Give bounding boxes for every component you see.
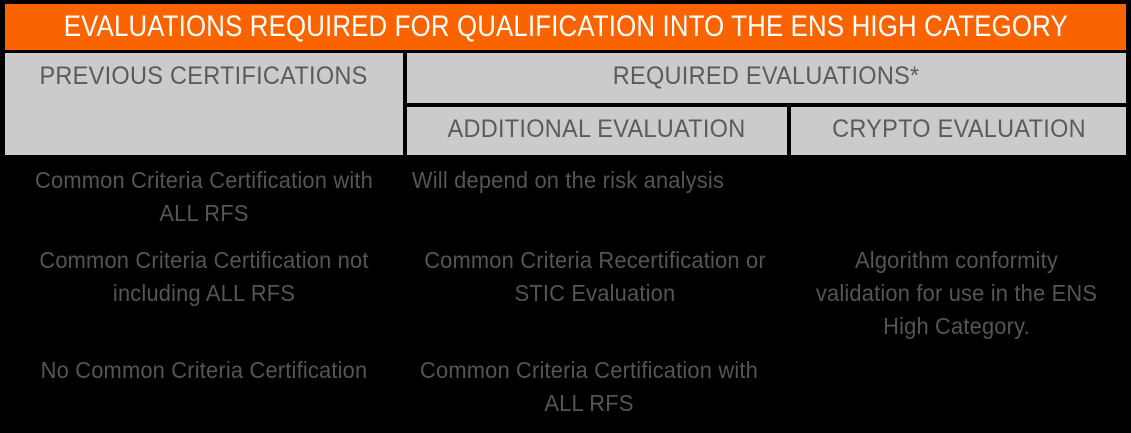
cell-crypto-evaluation: Algorithm conformity validation for use …	[787, 244, 1126, 354]
table-row: No Common Criteria Certification Common …	[5, 354, 1126, 430]
cell-additional-evaluation: Common Criteria Certification with ALL R…	[403, 354, 787, 430]
cell-additional-evaluation: Common Criteria Recertification or STIC …	[403, 244, 787, 354]
cell-additional-evaluation-text: Will depend on the risk analysis	[411, 164, 725, 197]
table-row: Common Criteria Certification with ALL R…	[5, 164, 1126, 242]
column-header-crypto-evaluation-label: CRYPTO EVALUATION	[832, 116, 1086, 155]
table-title-banner: EVALUATIONS REQUIRED FOR QUALIFICATION I…	[5, 4, 1126, 50]
cell-crypto-evaluation-text: Algorithm conformity validation for use …	[805, 244, 1108, 343]
column-header-previous-certifications-label: PREVIOUS CERTIFICATIONS	[40, 63, 368, 155]
column-header-required-evaluations-label: REQUIRED EVALUATIONS*	[613, 63, 920, 103]
cell-additional-evaluation-text: Common Criteria Recertification or STIC …	[418, 244, 771, 310]
column-header-previous-certifications: PREVIOUS CERTIFICATIONS	[5, 53, 403, 155]
column-header-crypto-evaluation: CRYPTO EVALUATION	[791, 107, 1126, 155]
cell-crypto-evaluation	[787, 354, 1126, 430]
cell-previous-certification-text: Common Criteria Certification with ALL R…	[23, 164, 386, 230]
page-title: EVALUATIONS REQUIRED FOR QUALIFICATION I…	[63, 12, 1067, 42]
table-body: Common Criteria Certification with ALL R…	[5, 158, 1126, 430]
table-row: Common Criteria Certification not includ…	[5, 244, 1126, 354]
cell-previous-certification: Common Criteria Certification with ALL R…	[5, 164, 403, 242]
table-header: PREVIOUS CERTIFICATIONS REQUIRED EVALUAT…	[5, 53, 1126, 155]
cell-crypto-evaluation	[787, 164, 1126, 242]
evaluations-table: EVALUATIONS REQUIRED FOR QUALIFICATION I…	[0, 0, 1131, 433]
cell-additional-evaluation: Will depend on the risk analysis	[403, 164, 787, 242]
cell-previous-certification: No Common Criteria Certification	[5, 354, 403, 430]
cell-previous-certification-text: No Common Criteria Certification	[23, 354, 386, 387]
cell-additional-evaluation-text: Common Criteria Certification with ALL R…	[418, 354, 760, 420]
column-header-additional-evaluation-label: ADDITIONAL EVALUATION	[448, 116, 746, 155]
column-header-additional-evaluation: ADDITIONAL EVALUATION	[407, 107, 787, 155]
column-header-required-evaluations: REQUIRED EVALUATIONS*	[407, 53, 1126, 103]
cell-previous-certification: Common Criteria Certification not includ…	[5, 244, 403, 354]
cell-previous-certification-text: Common Criteria Certification not includ…	[23, 244, 386, 310]
